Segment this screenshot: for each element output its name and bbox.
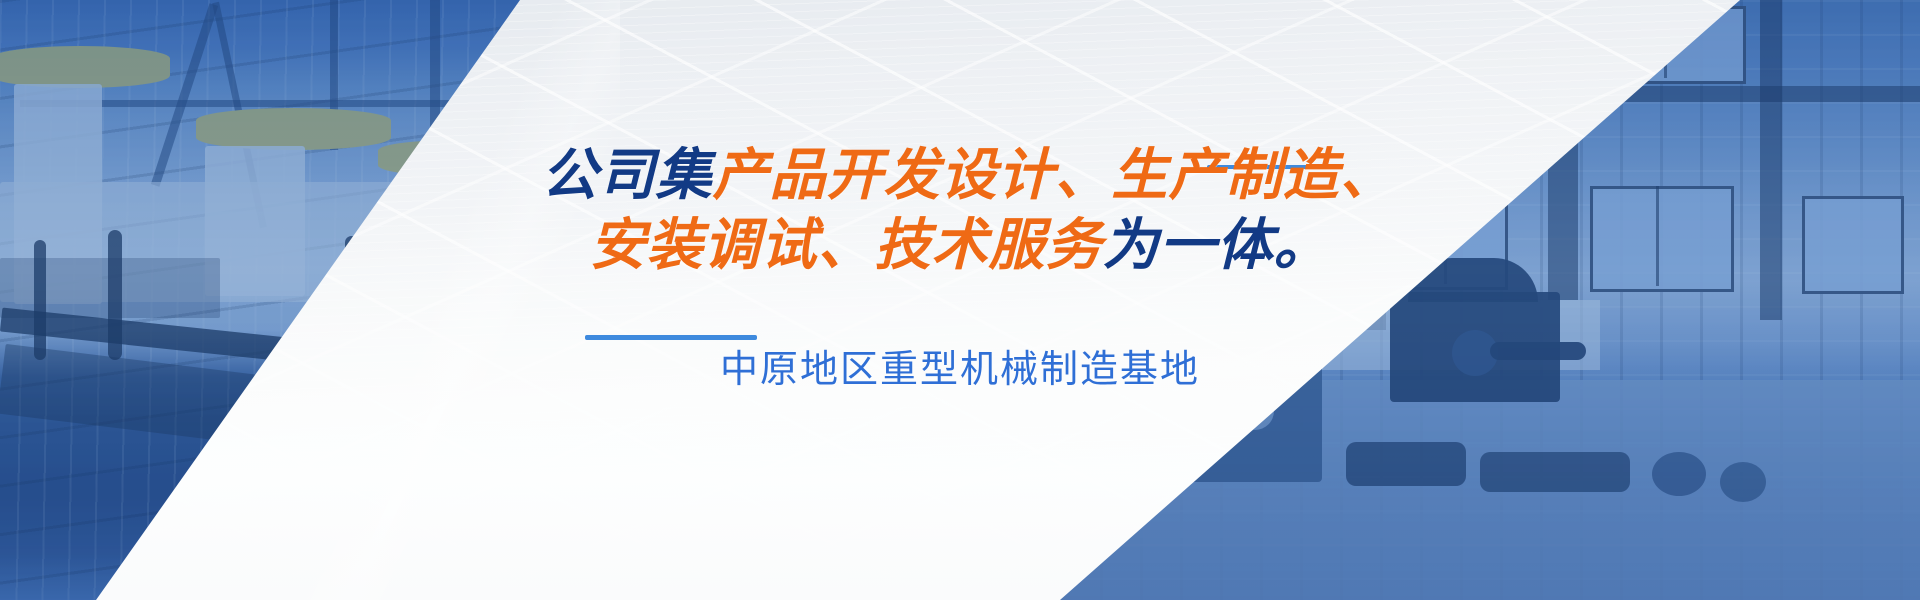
- headline-line-1: 公司集产品开发设计、生产制造、: [0, 140, 1920, 210]
- headline-line2-orange: 安装调试、技术服务: [590, 213, 1103, 276]
- headline-line-2: 安装调试、技术服务为一体。: [0, 210, 1920, 280]
- banner-content: 公司集产品开发设计、生产制造、 安装调试、技术服务为一体。 中原地区重型机械制造…: [0, 0, 1920, 600]
- subtitle-block: 中原地区重型机械制造基地: [0, 345, 1920, 395]
- subtitle-text: 中原地区重型机械制造基地: [720, 345, 1200, 395]
- hero-banner: 公司集产品开发设计、生产制造、 安装调试、技术服务为一体。 中原地区重型机械制造…: [0, 0, 1920, 600]
- headline-line1-orange: 产品开发设计、生产制造、: [713, 143, 1397, 206]
- headline-line1-navy: 公司集: [542, 143, 713, 206]
- accent-rule-bottom: [585, 335, 757, 340]
- headline-line2-navy: 为一体。: [1103, 213, 1331, 276]
- headline-block: 公司集产品开发设计、生产制造、 安装调试、技术服务为一体。: [0, 140, 1920, 280]
